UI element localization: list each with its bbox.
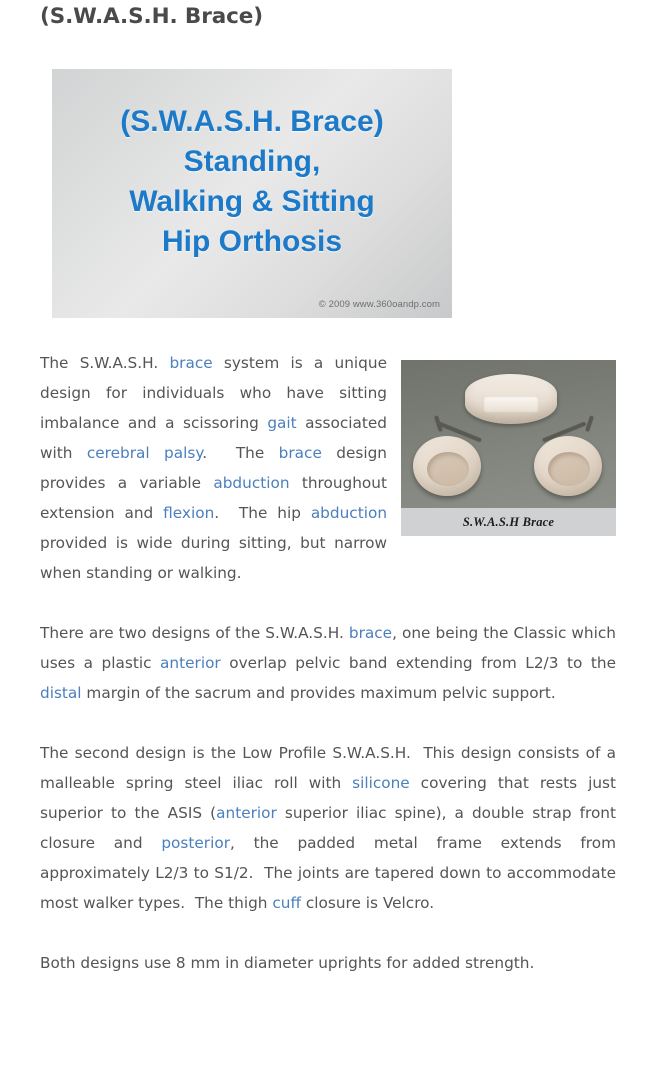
text-run: margin of the sacrum and provides maximu… bbox=[82, 684, 556, 702]
link-abduction[interactable]: abduction bbox=[213, 474, 289, 492]
paragraph-3: The second design is the Low Profile S.W… bbox=[40, 738, 616, 918]
link-brace[interactable]: brace bbox=[169, 354, 212, 372]
banner-headline-line-1: (S.W.A.S.H. Brace) bbox=[52, 102, 452, 142]
pelvic-band-shape bbox=[465, 374, 557, 424]
text-run: closure is Velcro. bbox=[301, 894, 434, 912]
thigh-cuff-left-shape bbox=[413, 436, 481, 496]
link-anterior[interactable]: anterior bbox=[160, 654, 221, 672]
band-rivet-right-icon bbox=[525, 403, 529, 407]
text-run: . The hip bbox=[214, 504, 311, 522]
brace-photo-figure: S.W.A.S.H Brace bbox=[401, 360, 616, 536]
link-posterior[interactable]: posterior bbox=[161, 834, 230, 852]
text-run: overlap pelvic band extending from L2/3 … bbox=[221, 654, 616, 672]
link-anterior-2[interactable]: anterior bbox=[216, 804, 277, 822]
banner-headline-line-3: Walking & Sitting bbox=[52, 182, 452, 222]
banner-headline-line-4: Hip Orthosis bbox=[52, 222, 452, 262]
page-title: Standing, Walking & Sitting Hip Orthosis… bbox=[40, 0, 616, 32]
paragraph-2: There are two designs of the S.W.A.S.H. … bbox=[40, 618, 616, 708]
brace-photo-caption: S.W.A.S.H Brace bbox=[401, 508, 616, 536]
banner-headline-line-2: Standing, bbox=[52, 142, 452, 182]
link-brace-3[interactable]: brace bbox=[349, 624, 392, 642]
banner-copyright-credit: © 2009 www.360oandp.com bbox=[319, 299, 440, 310]
link-distal[interactable]: distal bbox=[40, 684, 82, 702]
paragraph-4: Both designs use 8 mm in diameter uprigh… bbox=[40, 948, 616, 978]
page-title-line-2: (S.W.A.S.H. Brace) bbox=[40, 1, 616, 32]
link-cerebral-palsy[interactable]: cerebral palsy bbox=[87, 444, 202, 462]
thigh-cuff-right-shape bbox=[534, 436, 602, 496]
text-run: The S.W.A.S.H. bbox=[40, 354, 169, 372]
link-brace-2[interactable]: brace bbox=[279, 444, 322, 462]
link-flexion[interactable]: flexion bbox=[163, 504, 214, 522]
swash-banner-image: (S.W.A.S.H. Brace) Standing, Walking & S… bbox=[52, 69, 452, 318]
text-run: . The bbox=[202, 444, 278, 462]
link-silicone[interactable]: silicone bbox=[352, 774, 410, 792]
text-run: There are two designs of the S.W.A.S.H. bbox=[40, 624, 349, 642]
banner-headline: (S.W.A.S.H. Brace) Standing, Walking & S… bbox=[52, 102, 452, 262]
link-gait[interactable]: gait bbox=[267, 414, 296, 432]
brace-photo-image bbox=[401, 360, 616, 508]
upright-right-joint-shape bbox=[585, 415, 593, 431]
article-page: Standing, Walking & Sitting Hip Orthosis… bbox=[0, 0, 648, 1080]
link-abduction-2[interactable]: abduction bbox=[311, 504, 387, 522]
swash-banner-figure: (S.W.A.S.H. Brace) Standing, Walking & S… bbox=[52, 69, 452, 318]
text-run: Both designs use 8 mm in diameter uprigh… bbox=[40, 954, 534, 972]
text-run: provided is wide during sitting, but nar… bbox=[40, 534, 387, 582]
link-cuff[interactable]: cuff bbox=[272, 894, 301, 912]
band-rivet-left-icon bbox=[495, 403, 499, 407]
